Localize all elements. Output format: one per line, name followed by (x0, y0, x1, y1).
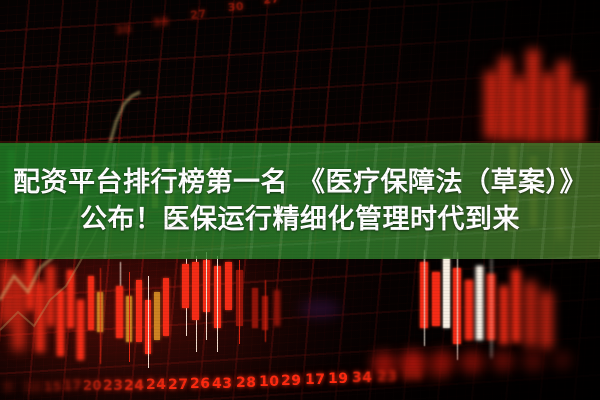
axis-label: 43 (212, 377, 232, 391)
axis-top-label: 30 (227, 1, 244, 14)
axis-top-label: 30 (115, 24, 132, 37)
axis-label: 23 (103, 379, 123, 393)
axis-top-label: 38 (152, 16, 169, 29)
axis-label: 17 (305, 373, 325, 387)
axis-label: 15 (44, 381, 62, 393)
axis-label: 27 (168, 378, 188, 392)
axis-label: 24 (146, 378, 166, 392)
axis-label: 20 (83, 380, 102, 393)
stock-photo-banner: 30 38 27 30 27 26 8 12 15 17 20 23 24 24… (0, 0, 600, 400)
axis-top-label: 27 (190, 8, 207, 21)
axis-label: 23 (377, 370, 397, 384)
axis-top-label: 27 (263, 0, 280, 6)
axis-label: 28 (236, 376, 256, 390)
bokeh-glow (522, 350, 544, 372)
axis-label: 10 (259, 375, 279, 389)
headline-line-1: 配资平台排行榜第一名 《医疗保障法（草案）》 (13, 167, 587, 198)
axis-label: 34 (402, 369, 422, 383)
headline-text: 配资平台排行榜第一名 《医疗保障法（草案）》 公布！医保运行精细化管理时代到来 (0, 143, 600, 259)
axis-label: 29 (281, 374, 301, 388)
axis-label: 8 (4, 381, 13, 393)
axis-label: 24 (124, 379, 144, 393)
axis-label: 34 (352, 371, 372, 385)
headline-line-2: 公布！医保运行精细化管理时代到来 (80, 204, 520, 235)
bokeh-glow (552, 350, 572, 370)
axis-label: 20 (428, 368, 448, 382)
axis-label: 26 (190, 377, 210, 391)
axis-label: 12 (24, 381, 42, 393)
axis-label: 19 (328, 372, 348, 386)
axis-label: 17 (63, 380, 82, 393)
